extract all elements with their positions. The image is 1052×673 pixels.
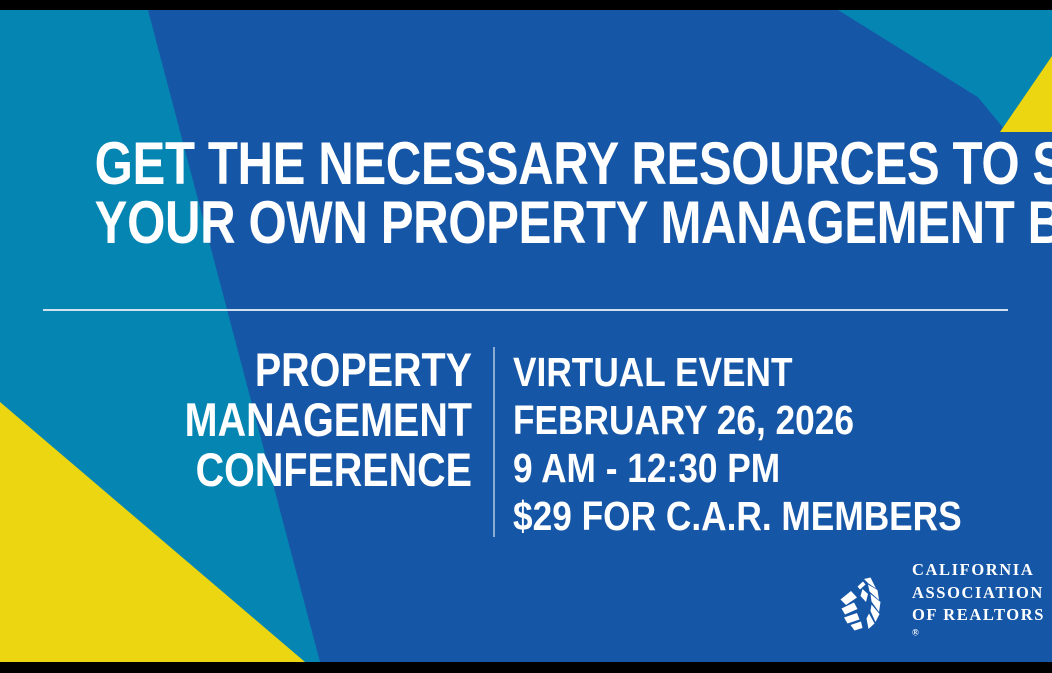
event-format: VIRTUAL EVENT [513,349,962,397]
logo-line-association: ASSOCIATION [912,582,1045,604]
event-time: 9 AM - 12:30 PM [513,445,962,493]
poster-artboard: GET THE NECESSARY RESOURCES TO SUPPORT Y… [0,10,1052,662]
event-details: VIRTUAL EVENT FEBRUARY 26, 2026 9 AM - 1… [513,349,962,541]
headline-line-2: YOUR OWN PROPERTY MANAGEMENT BUSINESS [95,194,958,253]
event-date: FEBRUARY 26, 2026 [513,397,962,445]
headline: GET THE NECESSARY RESOURCES TO SUPPORT Y… [95,135,958,253]
event-price: $29 FOR C.A.R. MEMBERS [513,493,962,541]
lower-section: PROPERTY MANAGEMENT CONFERENCE VIRTUAL E… [0,345,1052,555]
registered-trademark-symbol: ® [912,628,919,638]
logo-line-of-realtors: OF REALTORS® [912,604,1045,649]
horizontal-divider [43,309,1008,311]
event-title-line-2: MANAGEMENT [119,395,472,445]
event-title-line-1: PROPERTY [119,345,472,395]
car-logo: CALIFORNIA ASSOCIATION OF REALTORS® [824,558,1024,650]
california-association-of-realtors-logo-icon [824,566,898,642]
vertical-divider [493,347,495,537]
logo-line-california: CALIFORNIA [912,559,1045,581]
letterbox-bar-bottom [0,662,1052,673]
poster-content: GET THE NECESSARY RESOURCES TO SUPPORT Y… [0,10,1052,662]
letterbox-bar-top [0,0,1052,10]
headline-line-1: GET THE NECESSARY RESOURCES TO SUPPORT [95,135,958,194]
event-title-line-3: CONFERENCE [119,445,472,495]
conference-promo-poster: GET THE NECESSARY RESOURCES TO SUPPORT Y… [0,0,1052,673]
car-logo-wordmark: CALIFORNIA ASSOCIATION OF REALTORS® [912,559,1045,649]
logo-of-realtors-text: OF REALTORS [912,604,1045,626]
event-title: PROPERTY MANAGEMENT CONFERENCE [119,345,472,494]
